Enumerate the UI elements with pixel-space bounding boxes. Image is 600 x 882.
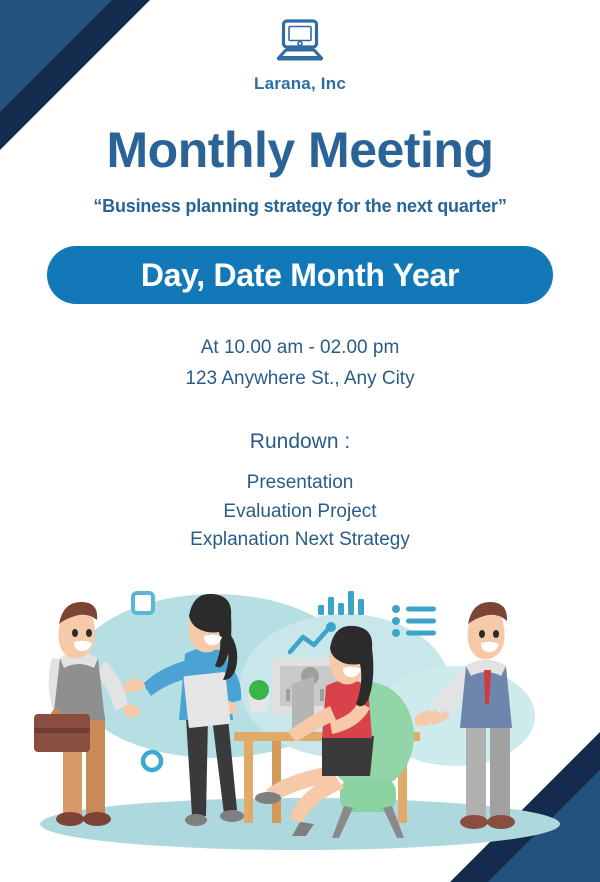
date-banner-label: Day, Date Month Year bbox=[141, 257, 459, 294]
event-address: 123 Anywhere St., Any City bbox=[0, 364, 600, 395]
rundown-section: Rundown : Presentation Evaluation Projec… bbox=[0, 428, 600, 555]
bar-chart-icon bbox=[318, 591, 364, 615]
rundown-item: Evaluation Project bbox=[0, 498, 600, 527]
date-banner: Day, Date Month Year bbox=[47, 246, 553, 304]
circle-outline-icon bbox=[143, 752, 161, 770]
rundown-heading: Rundown : bbox=[0, 428, 600, 455]
rundown-item: Explanation Next Strategy bbox=[0, 526, 600, 555]
poster-canvas: Larana, Inc Monthly Meeting “Business pl… bbox=[0, 0, 600, 882]
brand-name: Larana, Inc bbox=[0, 74, 600, 94]
brand-logo-block: Larana, Inc bbox=[0, 18, 600, 94]
event-details: At 10.00 am - 02.00 pm 123 Anywhere St.,… bbox=[0, 333, 600, 395]
bullet-list-icon bbox=[392, 605, 436, 637]
square-outline-icon bbox=[133, 593, 153, 613]
team-meeting-illustration bbox=[0, 566, 600, 882]
event-time: At 10.00 am - 02.00 pm bbox=[0, 333, 600, 364]
page-title: Monthly Meeting bbox=[0, 124, 600, 177]
person-man-with-tie bbox=[415, 602, 515, 829]
laptop-icon bbox=[0, 18, 600, 68]
page-subtitle: “Business planning strategy for the next… bbox=[0, 196, 600, 217]
rundown-item: Presentation bbox=[0, 469, 600, 498]
